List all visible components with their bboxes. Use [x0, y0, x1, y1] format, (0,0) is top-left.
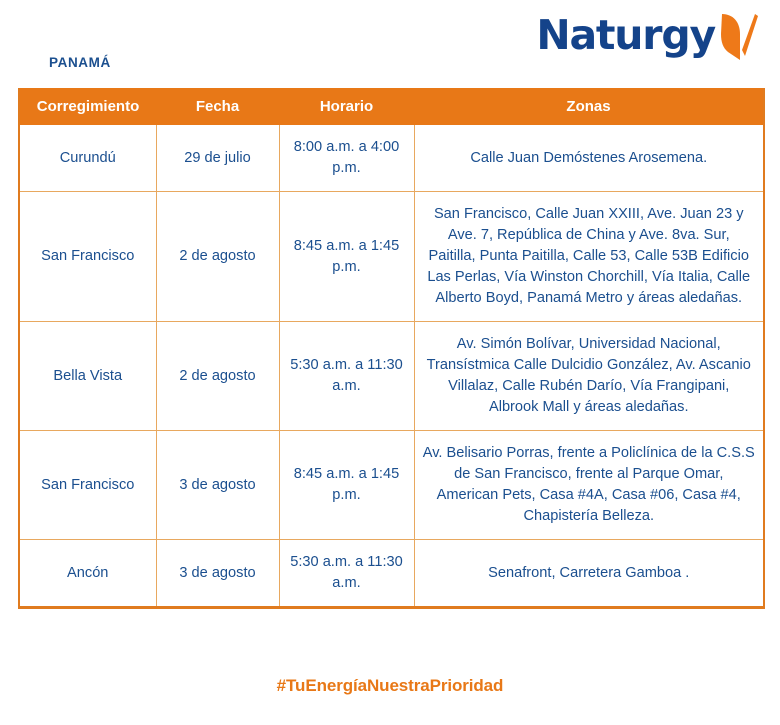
cell-zonas: Senafront, Carretera Gamboa .: [414, 540, 764, 608]
cell-corregimiento: Bella Vista: [19, 322, 156, 431]
campaign-hashtag: #TuEnergíaNuestraPrioridad: [277, 676, 504, 695]
column-header-zonas: Zonas: [414, 88, 764, 125]
table-body: Curundú 29 de julio 8:00 a.m. a 4:00 p.m…: [19, 125, 764, 608]
cell-fecha: 3 de agosto: [156, 540, 279, 608]
cell-zonas: Calle Juan Demóstenes Arosemena.: [414, 125, 764, 192]
column-header-fecha: Fecha: [156, 88, 279, 125]
cell-corregimiento: Ancón: [19, 540, 156, 608]
cell-horario: 8:45 a.m. a 1:45 p.m.: [279, 192, 414, 322]
cell-fecha: 3 de agosto: [156, 431, 279, 540]
cell-corregimiento: Curundú: [19, 125, 156, 192]
cell-fecha: 29 de julio: [156, 125, 279, 192]
page-header: PANAMÁ Naturgy: [0, 0, 780, 88]
outage-schedule-page: PANAMÁ Naturgy Corregimiento Fe: [0, 0, 780, 725]
brand-wordmark: Naturgy: [536, 8, 715, 62]
table-header-row: Corregimiento Fecha Horario Zonas: [19, 88, 764, 125]
column-header-corregimiento: Corregimiento: [19, 88, 156, 125]
cell-horario: 5:30 a.m. a 11:30 a.m.: [279, 540, 414, 608]
naturgy-logo: Naturgy: [536, 8, 762, 68]
cell-corregimiento: San Francisco: [19, 431, 156, 540]
page-footer: #TuEnergíaNuestraPrioridad: [0, 676, 780, 696]
cell-zonas: Av. Belisario Porras, frente a Policlíni…: [414, 431, 764, 540]
naturgy-flame-icon: [716, 10, 762, 68]
outage-table-container: Corregimiento Fecha Horario Zonas Curund…: [18, 88, 763, 609]
cell-zonas: Av. Simón Bolívar, Universidad Nacional,…: [414, 322, 764, 431]
table-row: San Francisco 3 de agosto 8:45 a.m. a 1:…: [19, 431, 764, 540]
cell-horario: 8:00 a.m. a 4:00 p.m.: [279, 125, 414, 192]
cell-horario: 8:45 a.m. a 1:45 p.m.: [279, 431, 414, 540]
column-header-horario: Horario: [279, 88, 414, 125]
table-row: Ancón 3 de agosto 5:30 a.m. a 11:30 a.m.…: [19, 540, 764, 608]
table-row: San Francisco 2 de agosto 8:45 a.m. a 1:…: [19, 192, 764, 322]
cell-fecha: 2 de agosto: [156, 322, 279, 431]
table-row: Bella Vista 2 de agosto 5:30 a.m. a 11:3…: [19, 322, 764, 431]
cell-fecha: 2 de agosto: [156, 192, 279, 322]
cell-corregimiento: San Francisco: [19, 192, 156, 322]
region-label: PANAMÁ: [49, 55, 111, 70]
cell-zonas: San Francisco, Calle Juan XXIII, Ave. Ju…: [414, 192, 764, 322]
outage-schedule-table: Corregimiento Fecha Horario Zonas Curund…: [18, 88, 765, 609]
cell-horario: 5:30 a.m. a 11:30 a.m.: [279, 322, 414, 431]
table-row: Curundú 29 de julio 8:00 a.m. a 4:00 p.m…: [19, 125, 764, 192]
table-header: Corregimiento Fecha Horario Zonas: [19, 88, 764, 125]
